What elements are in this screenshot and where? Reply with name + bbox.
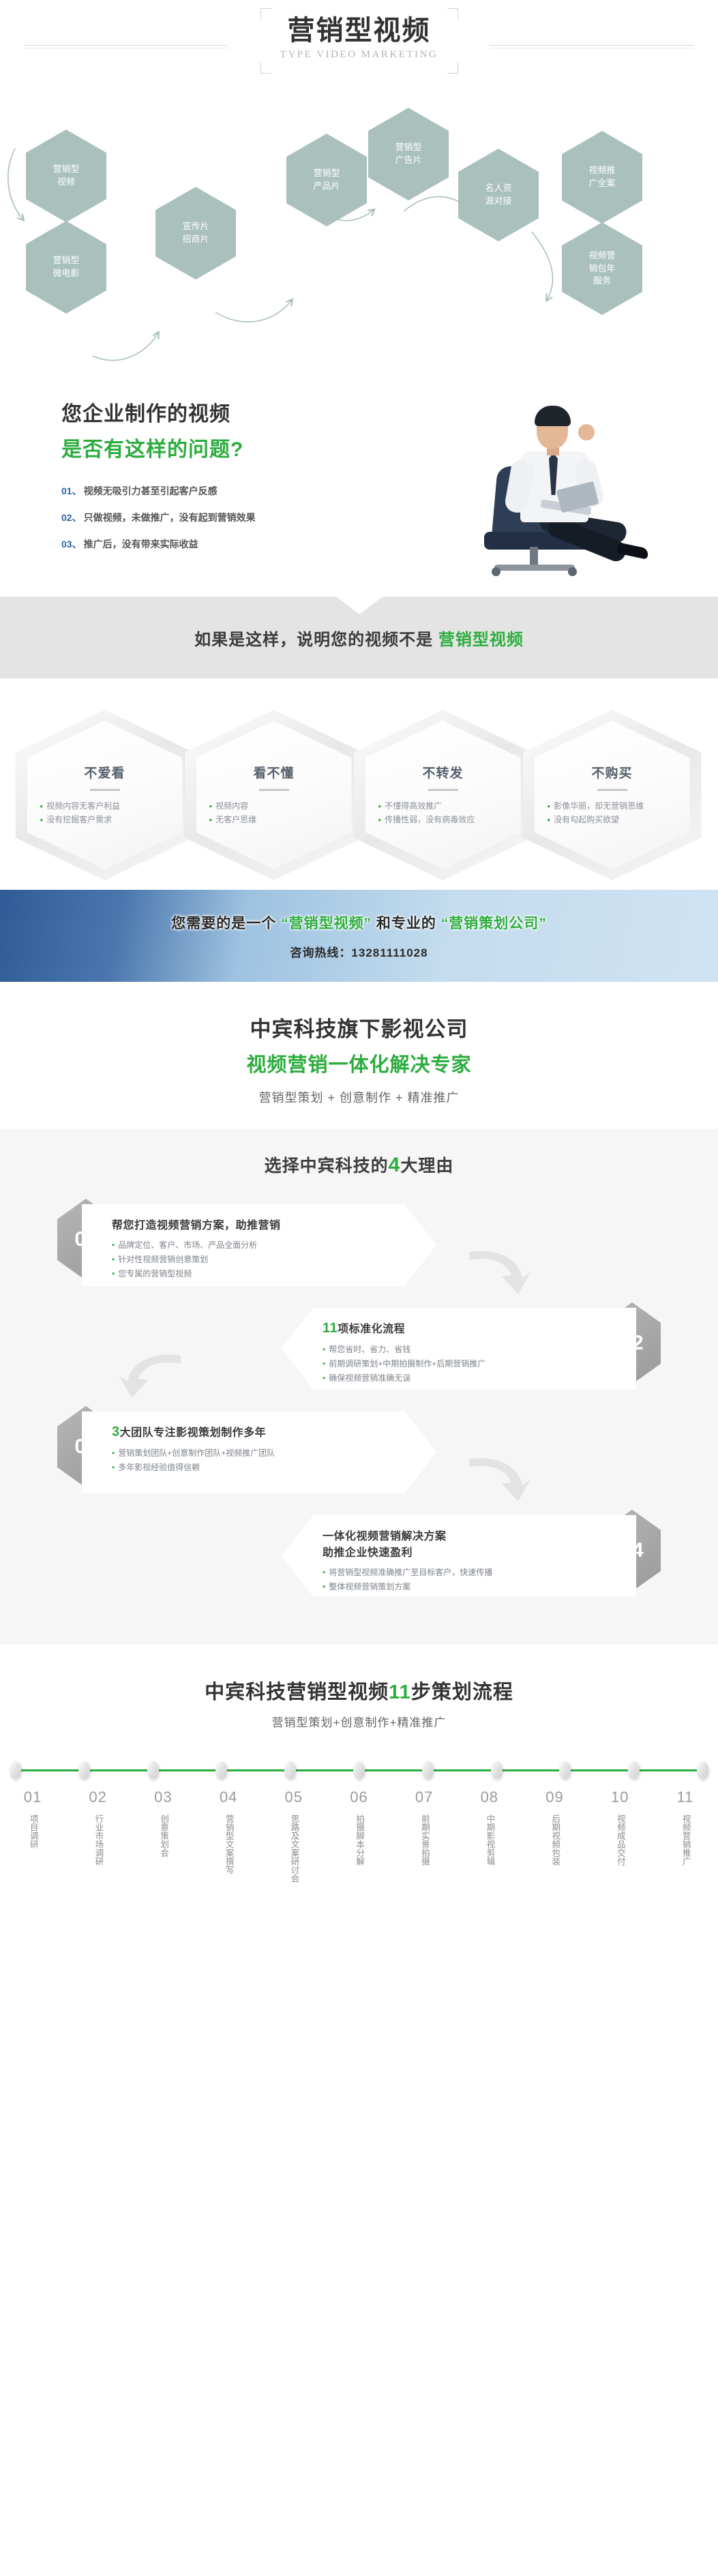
bullet-dot-icon: •: [323, 1343, 325, 1357]
reason-card-01-title: 帮您打造视频营销方案，助推营销: [112, 1216, 420, 1232]
cta-banner: 您需要的是一个 “营销型视频” 和专业的 “营销策划公司” 咨询热线：13281…: [0, 890, 718, 982]
reason-card-04-bullet: •整体视频营销策划方案: [323, 1580, 606, 1594]
steps-heading-post: 步策划流程: [411, 1681, 513, 1703]
bullet-dot-icon: •: [112, 1267, 115, 1281]
step-num-08: 08: [464, 1788, 515, 1806]
reason-card-02-bullet: •前期调研策划+中期拍摄制作+后期营销推广: [323, 1357, 606, 1371]
problem-item-number: 02、: [61, 511, 82, 524]
person-hair: [535, 406, 571, 426]
page-title: 营销型视频: [260, 8, 458, 48]
step-node-01[interactable]: [10, 1761, 21, 1779]
hex-service-2[interactable]: 营销型产品片: [286, 134, 367, 226]
step-col-07: 07 前期实景拍摄: [399, 1788, 449, 1886]
neg-hex-3[interactable]: 不购买 •影像华丽，却无营销思维 •没有勾起购买欲望: [523, 710, 702, 880]
step-num-01: 01: [8, 1788, 58, 1806]
reasons-heading-post: 大理由: [400, 1156, 453, 1175]
reason-row-01: 01 帮您打造视频营销方案，助推营销 •品牌定位、客户、市场、产品全面分析 •针…: [0, 1195, 718, 1289]
step-col-05: 05 思路及文案研讨会: [269, 1788, 319, 1886]
reason-card-02-bullet: •确保视频营销准确无误: [323, 1371, 606, 1386]
neg-hex-1-bullet-0: 视频内容: [215, 800, 248, 813]
neg-hex-0-bullet-0: 视频内容无客户利益: [46, 800, 120, 813]
step-num-10: 10: [595, 1788, 645, 1806]
page-header: 营销型视频 TYPE VIDEO MARKETING: [0, 0, 718, 95]
chair-base: [494, 565, 575, 571]
step-num-06: 06: [333, 1788, 384, 1806]
hex-service-2-label: 营销型产品片: [308, 167, 345, 193]
reason-card-01-bullet-0: 品牌定位、客户、市场、产品全面分析: [118, 1238, 257, 1253]
steps-heading: 中宾科技营销型视频11步策划流程: [0, 1676, 718, 1705]
header-rule-left-2: [24, 48, 228, 48]
neg-hex-0-heading: 不爱看: [84, 763, 125, 781]
step-col-02: 02 行业市场调研: [73, 1788, 123, 1886]
neg-hex-2-content: 不转发 •不懂得高效推广 •传播性弱，没有病毒效应: [354, 710, 533, 880]
reasons-heading-pre: 选择中宾科技的: [265, 1156, 389, 1175]
cta-quote-2: “营销策划公司”: [441, 916, 547, 931]
corner-top-left-icon: [260, 8, 271, 19]
neg-hex-3-bullet: •影像华丽，却无营销思维: [548, 800, 677, 813]
reason-card-02-title-text: 项标准化流程: [338, 1323, 405, 1335]
step-label-01: 项目调研: [26, 1814, 39, 1848]
step-col-04: 04 营销型文案撰写: [203, 1788, 254, 1886]
neg-hex-2-heading: 不转发: [422, 763, 463, 781]
hex-service-5-label: 名人资源对接: [479, 182, 517, 208]
businessman-photo: [413, 383, 678, 588]
negative-hexagon-row: 不爱看 •视频内容无客户利益 •没有挖掘客户需求 看不懂 •视频内容 •无客户思…: [12, 710, 707, 880]
reason-card-04-bullet-0: 将营销型视频准确推广至目标客户，快速传播: [329, 1566, 492, 1580]
steps-timeline: [0, 1761, 718, 1779]
step-num-02: 02: [73, 1788, 123, 1806]
neg-hex-0-bullet: •没有挖掘客户需求: [40, 813, 170, 827]
neg-hex-2-bullet-0: 不懂得高效推广: [385, 800, 442, 813]
neg-hex-2-bullet: •传播性弱，没有病毒效应: [378, 813, 508, 827]
bullet-dot-icon: •: [112, 1253, 115, 1267]
band-notch-top-icon: [336, 597, 383, 614]
step-label-11: 视频营销推广: [678, 1814, 691, 1866]
neg-hex-3-divider: [597, 789, 627, 791]
problem-item-number: 01、: [61, 484, 82, 498]
step-num-04: 04: [203, 1788, 254, 1806]
cta-quote-1: “营销型视频”: [281, 916, 372, 931]
bullet-dot-icon: •: [112, 1461, 115, 1475]
reason-card-04-title-line2: 助推企业快速盈利: [323, 1543, 606, 1559]
header-rule-right-2: [490, 48, 694, 48]
steps-heading-pre: 中宾科技营销型视频: [205, 1681, 389, 1703]
step-col-06: 06 拍摄脚本分解: [333, 1788, 384, 1886]
neg-hex-1-bullet: •无客户思维: [209, 813, 339, 827]
step-node-07[interactable]: [422, 1761, 434, 1779]
reason-card-04-bullet: •将营销型视频准确推广至目标客户，快速传播: [323, 1566, 606, 1580]
neg-hex-3-bullet-0: 影像华丽，却无营销思维: [554, 800, 644, 813]
steps-section: 中宾科技营销型视频11步策划流程 营销型策划+创意制作+精准推广 01: [0, 1645, 718, 1913]
cta-headline-b: 和专业的: [372, 916, 441, 931]
step-num-11: 11: [660, 1788, 710, 1806]
step-num-07: 07: [399, 1788, 449, 1806]
reason-card-04-bullet-1: 整体视频营销策划方案: [329, 1580, 410, 1594]
reason-card-03-bullet-0: 营销策划团队+创意制作团队+视频推广团队: [118, 1446, 275, 1461]
bullet-dot-icon: •: [209, 800, 213, 813]
reason-card-01-bullet: •品牌定位、客户、市场、产品全面分析: [112, 1238, 420, 1253]
neg-hex-1-bullet-1: 无客户思维: [215, 813, 256, 827]
chair-wheel-left: [492, 567, 500, 576]
marketing-landing-page: 营销型视频 TYPE VIDEO MARKETING 营销型视频 营销型微电影 …: [0, 0, 718, 1913]
service-hexagon-cluster: 营销型视频 营销型微电影 宣传片招商片 营销型产品片 营销型广告片 名人资源对接…: [0, 95, 718, 368]
problem-item-number: 03、: [61, 537, 82, 551]
bullet-dot-icon: •: [40, 800, 44, 813]
hex-service-4-label: 营销型广告片: [389, 141, 427, 167]
reason-card-01-bullet-1: 针对性视频营销创意策划: [118, 1253, 208, 1267]
step-node-10[interactable]: [628, 1761, 640, 1779]
neg-hex-0-bullet: •视频内容无客户利益: [40, 800, 170, 813]
corner-bottom-right-icon: [447, 63, 458, 74]
bullet-dot-icon: •: [112, 1238, 115, 1253]
reason-card-02-bullet: •帮您省时、省力、省钱: [323, 1343, 606, 1357]
reason-card-04[interactable]: 一体化视频营销解决方案 助推企业快速盈利 •将营销型视频准确推广至目标客户，快速…: [282, 1515, 636, 1597]
step-node-04[interactable]: [215, 1761, 227, 1779]
neg-hex-3-heading: 不购买: [591, 763, 632, 781]
neg-hex-2-divider: [428, 789, 458, 791]
reason-card-04-title: 一体化视频营销解决方案 助推企业快速盈利: [323, 1527, 606, 1559]
header-rule-left: [24, 45, 228, 46]
neg-hex-0[interactable]: 不爱看 •视频内容无客户利益 •没有挖掘客户需求: [16, 710, 194, 880]
bullet-dot-icon: •: [323, 1357, 325, 1371]
bullet-dot-icon: •: [112, 1446, 115, 1461]
reason-card-02-bullet-2: 确保视频营销准确无误: [329, 1371, 410, 1386]
neg-hex-1[interactable]: 看不懂 •视频内容 •无客户思维: [185, 710, 363, 880]
reasons-heading: 选择中宾科技的4大理由: [0, 1152, 718, 1177]
steps-columns: 01 项目调研 02 行业市场调研 03 创意策划会 04 营销型文案撰写 05…: [0, 1788, 718, 1886]
step-num-09: 09: [530, 1788, 580, 1806]
bullet-dot-icon: •: [548, 800, 551, 813]
band-text-highlight: 营销型视频: [438, 631, 524, 649]
step-label-05: 思路及文案研讨会: [287, 1814, 300, 1883]
hex-service-1[interactable]: 宣传片招商片: [155, 187, 236, 280]
neg-hex-3-content: 不购买 •影像华丽，却无营销思维 •没有勾起购买欲望: [523, 710, 702, 880]
problem-item-text: 推广后，没有带来实际收益: [84, 537, 198, 551]
hex-service-6-label: 视频推广全案: [583, 164, 620, 190]
cta-hotline[interactable]: 咨询热线：13281111028: [290, 943, 428, 960]
bullet-dot-icon: •: [323, 1566, 325, 1580]
step-node-05[interactable]: [284, 1761, 296, 1779]
steps-timeline-nodes: [0, 1761, 718, 1779]
company-intro: 中宾科技旗下影视公司 视频营销一体化解决专家 营销型策划 + 创意制作 + 精准…: [0, 982, 718, 1129]
company-line2: 视频营销一体化解决专家: [0, 1049, 718, 1077]
corner-bottom-left-icon: [260, 63, 271, 74]
reason-card-03[interactable]: 3大团队专注影视策划制作多年 •营销策划团队+创意制作团队+视频推广团队 •多年…: [82, 1411, 436, 1493]
hex-service-3[interactable]: 营销型微电影: [26, 221, 106, 314]
reason-card-02-bullet-0: 帮您省时、省力、省钱: [329, 1343, 410, 1357]
neg-hex-2-bullet: •不懂得高效推广: [378, 800, 508, 813]
bullet-dot-icon: •: [378, 813, 382, 827]
conclusion-band: 如果是这样，说明您的视频不是 营销型视频: [0, 597, 718, 678]
reason-row-04: 04 一体化视频营销解决方案 助推企业快速盈利 •将营销型视频准确推广至目标客户…: [0, 1506, 718, 1600]
step-col-09: 09 后期视频包装: [530, 1788, 580, 1886]
step-label-02: 行业市场调研: [91, 1814, 104, 1866]
step-label-04: 营销型文案撰写: [222, 1814, 235, 1874]
band-text-prefix: 如果是这样，说明您的视频不是: [194, 631, 438, 649]
neg-hex-2[interactable]: 不转发 •不懂得高效推广 •传播性弱，没有病毒效应: [354, 710, 533, 880]
reasons-section: 选择中宾科技的4大理由 01 帮您打造视频营销方案，助推营销 •品牌定位、客户、…: [0, 1129, 718, 1645]
reason-card-03-title-text: 大团队专注影视策划制作多年: [120, 1427, 267, 1439]
page-subtitle: TYPE VIDEO MARKETING: [260, 49, 458, 61]
hex-service-7[interactable]: 视频营销包年服务: [562, 222, 642, 315]
hex-service-1-label: 宣传片招商片: [177, 220, 214, 246]
negative-hexagon-section: 不爱看 •视频内容无客户利益 •没有挖掘客户需求 看不懂 •视频内容 •无客户思…: [0, 678, 718, 890]
reason-card-03-title: 3大团队专注影视策划制作多年: [112, 1423, 420, 1440]
reason-card-01-bullet-2: 您专属的营销型视频: [118, 1267, 192, 1281]
step-node-06[interactable]: [353, 1761, 365, 1779]
step-label-09: 后期视频包装: [548, 1814, 561, 1866]
step-node-08[interactable]: [491, 1761, 503, 1779]
flow-arrow-1-icon: [468, 1245, 530, 1296]
hex-service-3-label: 营销型微电影: [47, 254, 85, 280]
reason-card-03-bullet: •营销策划团队+创意制作团队+视频推广团队: [112, 1446, 420, 1461]
step-col-11: 11 视频营销推广: [660, 1788, 710, 1886]
hex-service-4[interactable]: 营销型广告片: [368, 108, 449, 200]
step-node-09[interactable]: [559, 1761, 571, 1779]
reason-card-02-bullet-1: 前期调研策划+中期拍摄制作+后期营销推广: [329, 1357, 485, 1371]
band-text: 如果是这样，说明您的视频不是 营销型视频: [194, 626, 524, 650]
neg-hex-0-bullet-1: 没有挖掘客户需求: [46, 813, 112, 827]
corner-top-right-icon: [447, 8, 458, 19]
header-frame: 营销型视频 TYPE VIDEO MARKETING: [260, 8, 458, 74]
reason-card-03-bullet: •多年影视经验值得信赖: [112, 1461, 420, 1475]
cta-headline-a: 您需要的是一个: [171, 916, 281, 931]
neg-hex-0-content: 不爱看 •视频内容无客户利益 •没有挖掘客户需求: [16, 710, 194, 880]
flow-arrow-2-icon: [119, 1349, 182, 1399]
bullet-dot-icon: •: [40, 813, 44, 827]
flow-arrow-3-icon: [468, 1452, 530, 1503]
step-label-07: 前期实景拍摄: [417, 1814, 430, 1866]
reason-row-03: 03 3大团队专注影视策划制作多年 •营销策划团队+创意制作团队+视频推广团队 …: [0, 1402, 718, 1496]
reason-card-02-title: 11项标准化流程: [323, 1319, 606, 1336]
step-label-10: 视频成品交付: [614, 1814, 627, 1866]
hex-service-0[interactable]: 营销型视频: [26, 130, 106, 222]
reason-card-03-title-number: 3: [112, 1424, 120, 1439]
cta-headline: 您需要的是一个 “营销型视频” 和专业的 “营销策划公司”: [171, 912, 547, 933]
step-num-03: 03: [138, 1788, 188, 1806]
step-col-03: 03 创意策划会: [138, 1788, 188, 1886]
step-label-03: 创意策划会: [157, 1814, 170, 1857]
neg-hex-1-divider: [259, 789, 289, 791]
bullet-dot-icon: •: [323, 1580, 325, 1594]
reasons-heading-number: 4: [389, 1154, 401, 1176]
hex-service-5[interactable]: 名人资源对接: [458, 149, 539, 241]
step-col-08: 08 中期影视剪辑: [464, 1788, 515, 1886]
step-node-03[interactable]: [147, 1761, 159, 1779]
hex-service-6[interactable]: 视频推广全案: [562, 131, 642, 224]
person-hand: [578, 424, 595, 440]
reason-card-01-bullet: •您专属的营销型视频: [112, 1267, 420, 1281]
reason-card-02[interactable]: 11项标准化流程 •帮您省时、省力、省钱 •前期调研策划+中期拍摄制作+后期营销…: [282, 1308, 636, 1390]
step-label-06: 拍摄脚本分解: [353, 1814, 365, 1866]
step-col-01: 01 项目调研: [8, 1788, 58, 1886]
reason-row-02: 02 11项标准化流程 •帮您省时、省力、省钱 •前期调研策划+中期拍摄制作+后…: [0, 1298, 718, 1392]
step-node-02[interactable]: [78, 1761, 90, 1779]
company-line3: 营销型策划 + 创意制作 + 精准推广: [0, 1088, 718, 1106]
reason-card-02-title-number: 11: [323, 1321, 338, 1336]
bullet-dot-icon: •: [323, 1371, 325, 1386]
step-label-08: 中期影视剪辑: [483, 1814, 496, 1866]
step-col-10: 10 视频成品交付: [595, 1788, 645, 1886]
neg-hex-1-heading: 看不懂: [253, 763, 294, 781]
reasons-list: 01 帮您打造视频营销方案，助推营销 •品牌定位、客户、市场、产品全面分析 •针…: [0, 1195, 718, 1600]
bullet-dot-icon: •: [548, 813, 551, 827]
bullet-dot-icon: •: [378, 800, 382, 813]
problem-item-text: 视频无吸引力甚至引起客户反感: [84, 484, 218, 498]
reason-card-01-bullet: •针对性视频营销创意策划: [112, 1253, 420, 1267]
hex-service-0-label: 营销型视频: [47, 163, 85, 189]
header-rule-right: [490, 45, 694, 46]
reason-card-04-title-line1: 一体化视频营销解决方案: [323, 1531, 447, 1542]
reason-card-01[interactable]: 帮您打造视频营销方案，助推营销 •品牌定位、客户、市场、产品全面分析 •针对性视…: [82, 1204, 436, 1286]
neg-hex-3-bullet: •没有勾起购买欲望: [548, 813, 677, 827]
steps-subtitle: 营销型策划+创意制作+精准推广: [0, 1713, 718, 1730]
neg-hex-1-bullet: •视频内容: [209, 800, 339, 813]
neg-hex-0-divider: [90, 789, 120, 791]
problem-section: 您企业制作的视频 是否有这样的问题? 01、 视频无吸引力甚至引起客户反感 02…: [0, 368, 718, 597]
hex-service-7-label: 视频营销包年服务: [583, 250, 620, 288]
chair-wheel-right: [568, 567, 577, 576]
reason-card-03-bullet-1: 多年影视经验值得信赖: [118, 1461, 200, 1475]
neg-hex-2-bullet-1: 传播性弱，没有病毒效应: [385, 813, 475, 827]
steps-heading-number: 11: [389, 1681, 411, 1703]
problem-item-text: 只做视频，未做推广，没有起到营销效果: [84, 511, 256, 524]
bullet-dot-icon: •: [209, 813, 213, 827]
neg-hex-3-bullet-1: 没有勾起购买欲望: [554, 813, 619, 827]
company-line1: 中宾科技旗下影视公司: [0, 1012, 718, 1043]
step-node-11[interactable]: [697, 1761, 708, 1779]
step-num-05: 05: [269, 1788, 319, 1806]
neg-hex-1-content: 看不懂 •视频内容 •无客户思维: [185, 710, 363, 880]
